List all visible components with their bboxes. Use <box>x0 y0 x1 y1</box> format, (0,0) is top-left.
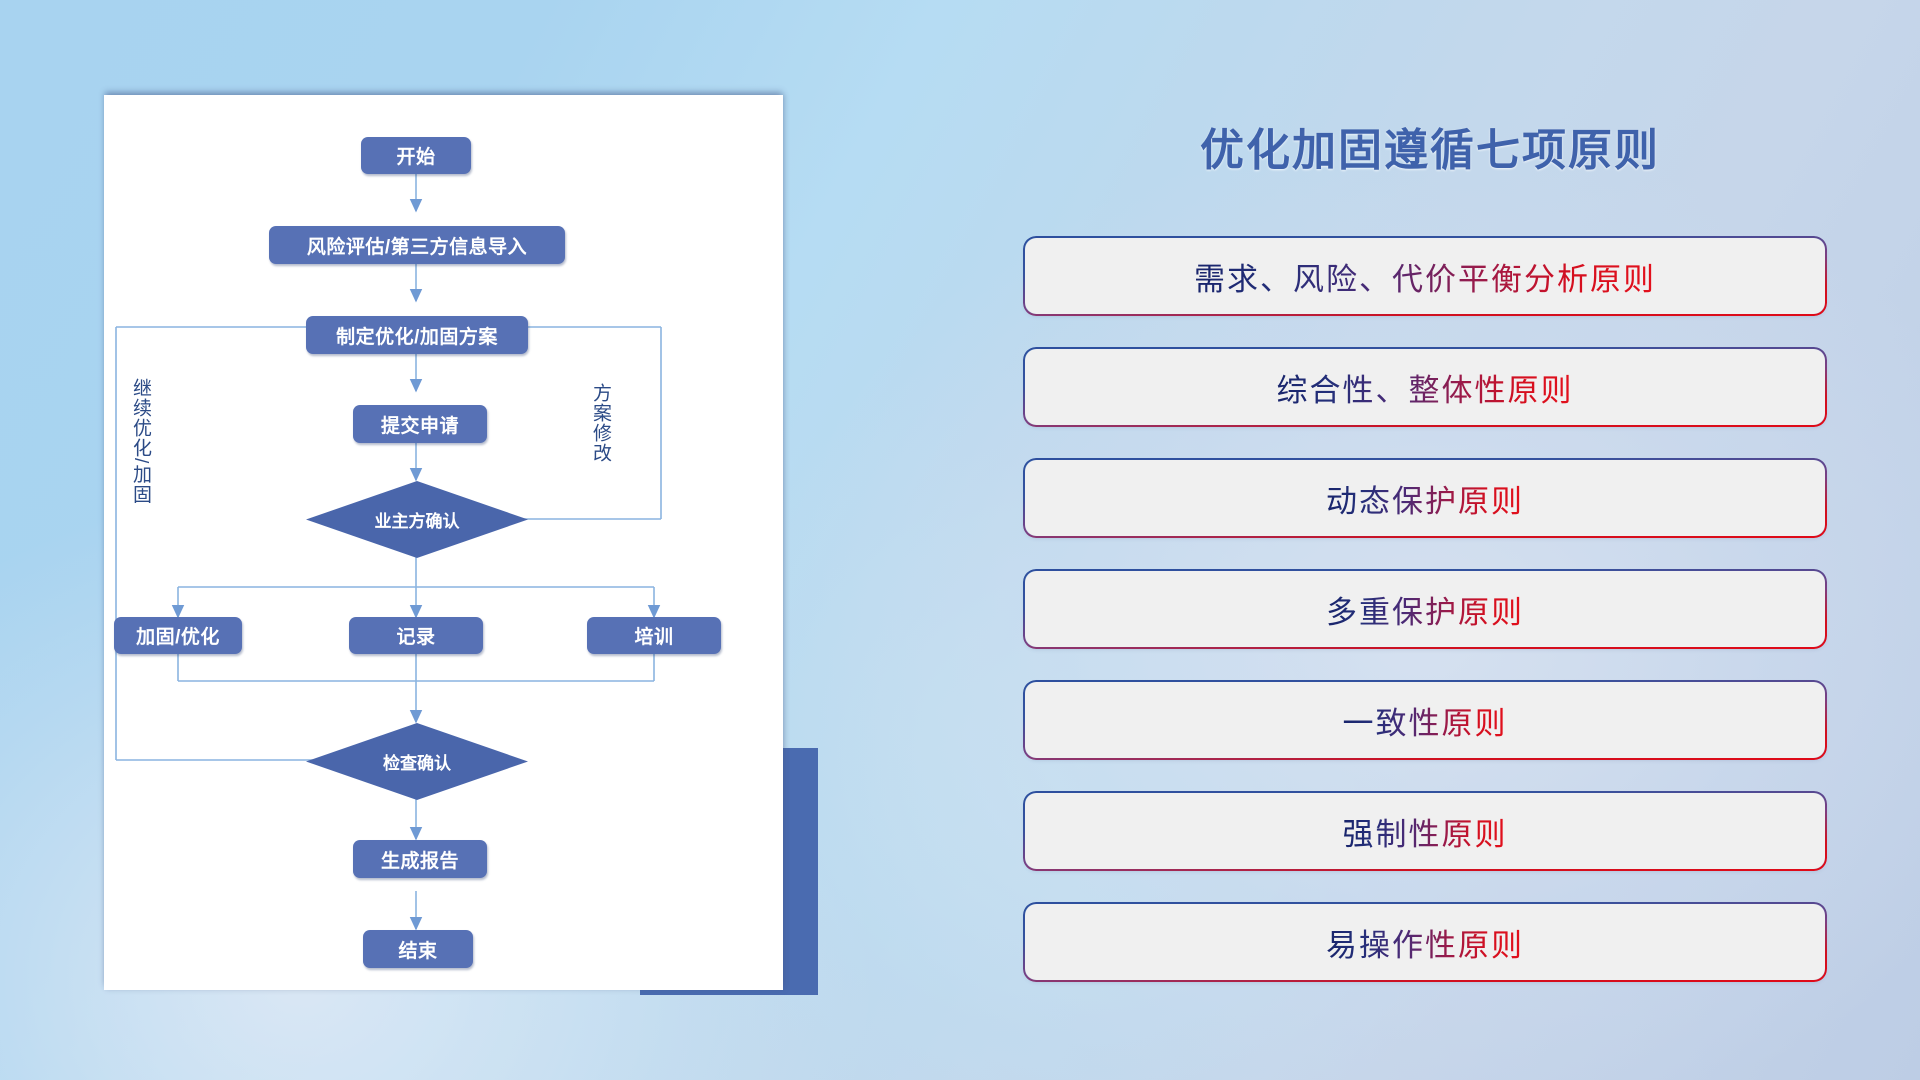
flow-node-label: 记录 <box>396 622 435 649</box>
flow-node-generate-report[interactable]: 生成报告 <box>353 840 487 878</box>
flow-node-label: 结束 <box>398 936 437 963</box>
principle-card[interactable]: 多重保护原则 <box>1025 571 1825 647</box>
flow-node-label: 培训 <box>634 622 673 649</box>
flow-node-label: 检查确认 <box>383 749 451 774</box>
flow-node-submit-application[interactable]: 提交申请 <box>353 405 487 443</box>
flow-edge-label-left-loop: 继续优化/加固 <box>131 378 150 504</box>
principle-label: 需求、风险、代价平衡分析原则 <box>1194 254 1656 299</box>
principle-label: 易操作性原则 <box>1326 920 1524 965</box>
principles-panel: 优化加固遵循七项原则 需求、风险、代价平衡分析原则 综合性、整体性原则 动态保护… <box>1020 60 1840 1020</box>
principle-card[interactable]: 动态保护原则 <box>1025 460 1825 536</box>
flow-node-label: 风险评估/第三方信息导入 <box>307 232 527 259</box>
flow-node-start[interactable]: 开始 <box>361 137 471 174</box>
flowchart-sheet: 开始 风险评估/第三方信息导入 制定优化/加固方案 提交申请 业主方确认 加固/… <box>104 95 783 990</box>
flow-node-label: 业主方确认 <box>375 507 460 532</box>
principle-card[interactable]: 需求、风险、代价平衡分析原则 <box>1025 238 1825 314</box>
principle-label: 多重保护原则 <box>1326 587 1524 632</box>
flow-node-label: 提交申请 <box>381 411 459 438</box>
principle-card[interactable]: 综合性、整体性原则 <box>1025 349 1825 425</box>
flow-node-reinforce-optimize[interactable]: 加固/优化 <box>114 617 242 654</box>
principle-card[interactable]: 易操作性原则 <box>1025 904 1825 980</box>
flow-node-label: 开始 <box>396 142 435 169</box>
flow-node-training[interactable]: 培训 <box>587 617 721 654</box>
flow-edge-label-right-loop: 方案修改 <box>591 383 610 463</box>
principle-label: 综合性、整体性原则 <box>1277 365 1574 410</box>
flow-node-end[interactable]: 结束 <box>363 930 473 968</box>
flow-node-record[interactable]: 记录 <box>349 617 483 654</box>
panel-title: 优化加固遵循七项原则 <box>1020 114 1840 178</box>
flow-node-risk-assessment[interactable]: 风险评估/第三方信息导入 <box>269 226 565 264</box>
principle-label: 一致性原则 <box>1343 698 1508 743</box>
principles-list: 需求、风险、代价平衡分析原则 综合性、整体性原则 动态保护原则 多重保护原则 一… <box>1025 238 1825 1015</box>
flow-node-label: 加固/优化 <box>136 622 220 649</box>
principle-card[interactable]: 强制性原则 <box>1025 793 1825 869</box>
flow-node-label: 生成报告 <box>381 846 459 873</box>
principle-label: 动态保护原则 <box>1326 476 1524 521</box>
principle-card[interactable]: 一致性原则 <box>1025 682 1825 758</box>
slide-canvas: 开始 风险评估/第三方信息导入 制定优化/加固方案 提交申请 业主方确认 加固/… <box>0 0 1920 1080</box>
principle-label: 强制性原则 <box>1343 809 1508 854</box>
flowchart-diagram: 开始 风险评估/第三方信息导入 制定优化/加固方案 提交申请 业主方确认 加固/… <box>104 95 783 990</box>
flow-node-label: 制定优化/加固方案 <box>336 322 498 349</box>
flow-node-make-plan[interactable]: 制定优化/加固方案 <box>306 316 528 354</box>
